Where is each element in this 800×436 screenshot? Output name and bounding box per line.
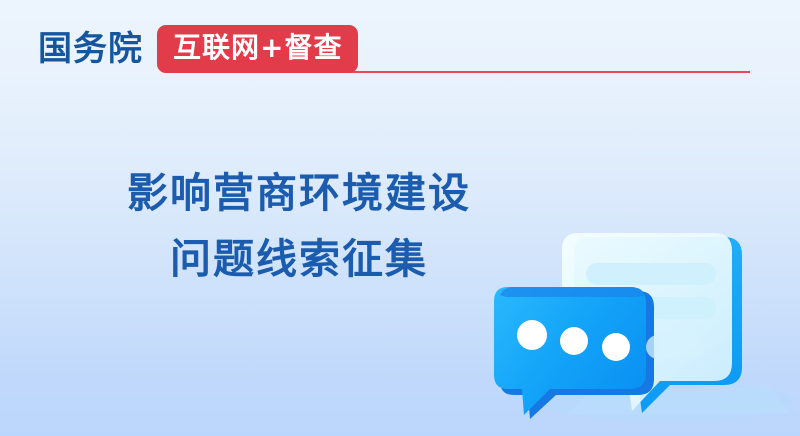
brand-row: 国务院 互联网+督查 bbox=[38, 24, 358, 74]
typing-dot-2 bbox=[560, 327, 588, 355]
brand-title: 国务院 bbox=[38, 32, 143, 66]
bubble-overlap-highlight bbox=[646, 335, 704, 359]
brand-badge: 互联网+督查 bbox=[157, 25, 358, 73]
typing-dot-1 bbox=[517, 320, 547, 350]
message-bubble-small-top-edge bbox=[500, 287, 645, 297]
two-speech-bubbles-illustration bbox=[470, 215, 800, 436]
bubble-text-line-1 bbox=[586, 263, 716, 285]
promo-banner: 国务院 互联网+督查 影响营商环境建设 问题线索征集 bbox=[0, 0, 800, 436]
speech-bubbles-svg bbox=[470, 215, 800, 436]
typing-dot-3 bbox=[602, 333, 630, 361]
banner-header: 国务院 互联网+督查 bbox=[0, 0, 800, 96]
header-divider-rule bbox=[344, 71, 750, 73]
